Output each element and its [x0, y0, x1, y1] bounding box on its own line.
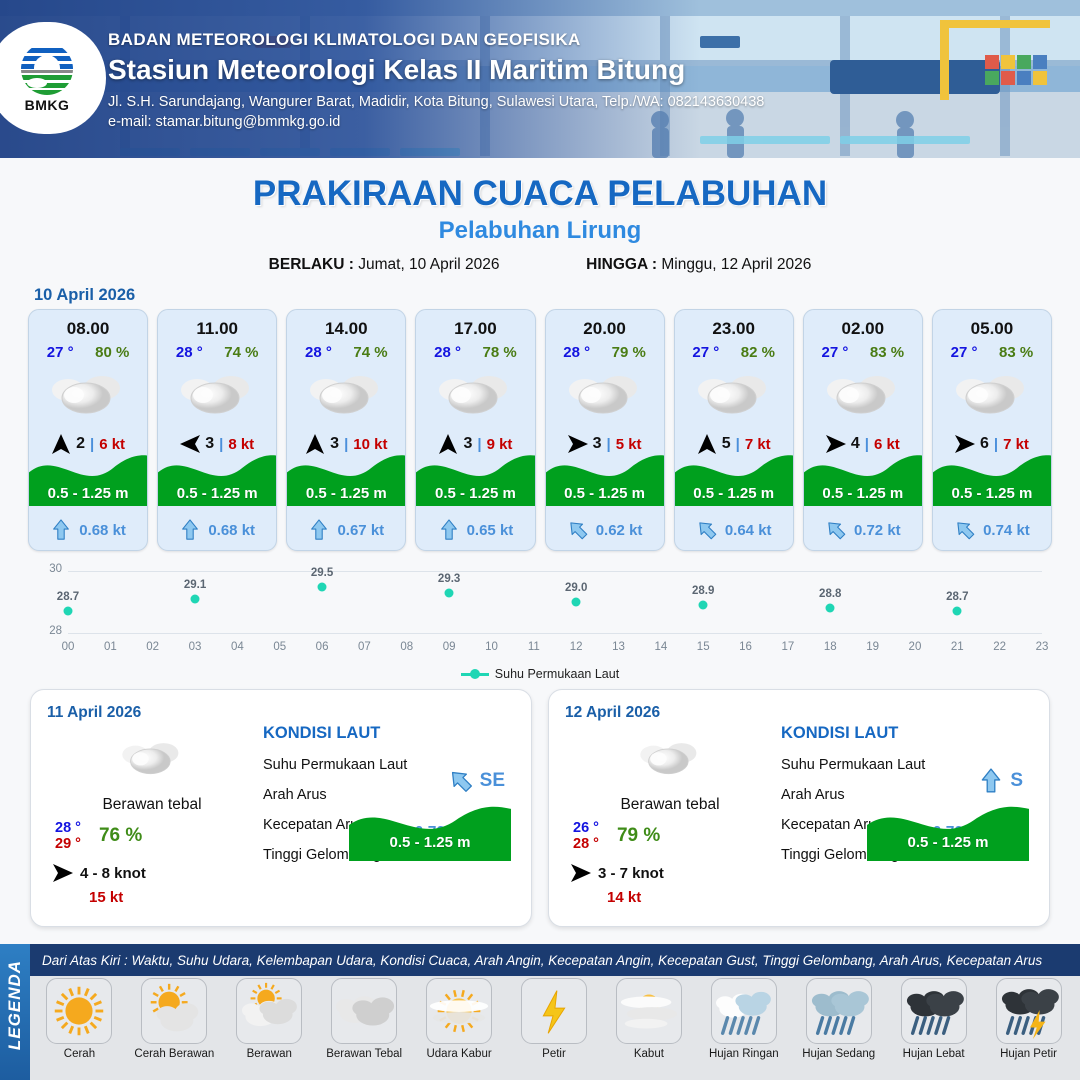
card-humidity: 83 % [870, 344, 904, 361]
validity-row: BERLAKU : Jumat, 10 April 2026 HINGGA : … [0, 256, 1080, 274]
legend-caption: Petir [542, 1048, 566, 1060]
chart-point-label: 28.8 [819, 588, 841, 600]
chart-x-tick: 00 [62, 641, 75, 653]
card-weather-icon [158, 363, 276, 425]
daily-temp-min: 28 ° [55, 820, 81, 836]
forecast-day-label: 10 April 2026 [34, 286, 1080, 305]
thunderstorm-icon [997, 978, 1061, 1044]
card-weather-icon [804, 363, 922, 425]
card-wave-height: 0.5 - 1.25 m [804, 485, 922, 502]
legend-caption: Hujan Petir [1000, 1048, 1057, 1060]
card-temperature: 28 ° [176, 344, 203, 361]
light-rain-icon [712, 978, 776, 1044]
daily-humidity: 76 % [99, 825, 142, 847]
page-header: BMKG BADAN METEOROLOGI KLIMATOLOGI DAN G… [0, 0, 1080, 158]
legend-tile [806, 978, 872, 1044]
daily-wind-row: 3 - 7 knot [565, 862, 775, 884]
legend-item: Berawan [222, 978, 317, 1060]
current-direction-arrow-icon [438, 519, 460, 541]
chart-data-point [445, 588, 454, 597]
cloudy-icon [637, 738, 703, 778]
legend-caption: Berawan Tebal [326, 1048, 402, 1060]
daily-weather-icon [565, 730, 775, 786]
daily-wave-height: 0.5 - 1.25 m [867, 834, 1029, 851]
chart-x-tick: 08 [400, 641, 413, 653]
bmkg-logo-text: BMKG [25, 97, 70, 113]
card-current-speed: 0.65 kt [467, 522, 514, 539]
legend-side-bar: LEGENDA [0, 944, 30, 1080]
card-current-row: 0.74 kt [933, 519, 1051, 541]
sst-legend-marker-icon [461, 673, 489, 676]
chart-data-point [953, 607, 962, 616]
daily-date: 11 April 2026 [47, 704, 515, 722]
legend-caption: Hujan Ringan [709, 1048, 779, 1060]
daily-gust: 14 kt [565, 889, 775, 906]
daily-temps-row: 28 ° 29 ° 76 % [47, 820, 257, 852]
daily-temp-min: 26 ° [573, 820, 599, 836]
hourly-card: 14.00 28 ° 74 % 3 | 10 kt 0.5 - 1.25 m 0… [286, 309, 406, 551]
card-wave-height: 0.5 - 1.25 m [29, 485, 147, 502]
legend-tile [236, 978, 302, 1044]
chart-point-label: 29.5 [311, 567, 333, 579]
chart-point-label: 29.1 [184, 579, 206, 591]
hourly-card: 02.00 27 ° 83 % 4 | 6 kt 0.5 - 1.25 m 0.… [803, 309, 923, 551]
sea-condition-block: KONDISI LAUT Suhu Permukaan Laut Arah Ar… [263, 724, 517, 863]
chart-x-tick: 18 [824, 641, 837, 653]
cloudy-icon [823, 370, 903, 418]
sun-icon [47, 978, 111, 1044]
sst-chart: 2830000102030405060708091011121314151617… [24, 565, 1056, 661]
daily-left-block: Berawan tebal 28 ° 29 ° 76 % 4 - 8 knot … [47, 730, 257, 906]
legend-caption: Hujan Sedang [802, 1048, 875, 1060]
current-direction-arrow-icon [179, 519, 201, 541]
daily-wind-speed: 4 - 8 knot [80, 865, 146, 882]
daily-forecast-card: 11 April 2026 Berawan tebal 28 ° 29 ° 76… [30, 689, 532, 927]
chart-x-tick: 21 [951, 641, 964, 653]
current-direction-arrow-icon [50, 519, 72, 541]
daily-date: 12 April 2026 [565, 704, 1033, 722]
legend-tile [46, 978, 112, 1044]
legend-tile [711, 978, 777, 1044]
card-time: 02.00 [804, 319, 922, 339]
chart-y-tick: 30 [34, 563, 62, 575]
chart-gridline [68, 633, 1042, 634]
card-current-speed: 0.62 kt [596, 522, 643, 539]
legend-item: Kabut [601, 978, 696, 1060]
legend-item: Hujan Petir [981, 978, 1076, 1060]
card-current-row: 0.68 kt [29, 519, 147, 541]
legend-item: Cerah Berawan [127, 978, 222, 1060]
legend-item: Berawan Tebal [317, 978, 412, 1060]
card-current-row: 0.68 kt [158, 519, 276, 541]
card-current-row: 0.72 kt [804, 519, 922, 541]
legend-tile [616, 978, 682, 1044]
card-wave-height: 0.5 - 1.25 m [416, 485, 534, 502]
card-temperature: 27 ° [692, 344, 719, 361]
station-address: Jl. S.H. Sarundajang, Wangurer Barat, Ma… [108, 94, 764, 110]
chart-x-tick: 12 [570, 641, 583, 653]
port-name: Pelabuhan Lirung [0, 217, 1080, 245]
daily-temp-max: 29 ° [55, 836, 81, 852]
chart-x-tick: 09 [443, 641, 456, 653]
sea-condition-title: KONDISI LAUT [781, 724, 1035, 743]
current-direction-arrow-icon [442, 763, 479, 800]
chart-point-label: 28.7 [57, 591, 79, 603]
legend-caption: Berawan [247, 1048, 292, 1060]
chart-data-point [318, 582, 327, 591]
legend-tile [426, 978, 492, 1044]
haze-icon [427, 978, 491, 1044]
card-weather-icon [933, 363, 1051, 425]
bmkg-emblem-icon [21, 43, 73, 95]
legend-items: Cerah Cerah Berawan Berawan Berawan Teba… [32, 978, 1076, 1060]
current-direction-arrow-icon [978, 768, 1004, 794]
daily-current-direction: S [978, 768, 1023, 794]
card-weather-icon [675, 363, 793, 425]
card-time: 23.00 [675, 319, 793, 339]
legend-caption: Hujan Lebat [903, 1048, 965, 1060]
card-time: 20.00 [546, 319, 664, 339]
card-current-speed: 0.64 kt [725, 522, 772, 539]
cloudy-icon [694, 370, 774, 418]
chart-y-tick: 28 [34, 625, 62, 637]
header-text-block: BADAN METEOROLOGI KLIMATOLOGI DAN GEOFIS… [108, 30, 764, 130]
chart-x-tick: 22 [993, 641, 1006, 653]
legend-caption: Kabut [634, 1048, 664, 1060]
daily-condition: Berawan tebal [47, 796, 257, 814]
card-humidity: 80 % [95, 344, 129, 361]
daily-left-block: Berawan tebal 26 ° 28 ° 79 % 3 - 7 knot … [565, 730, 775, 906]
daily-wave-height: 0.5 - 1.25 m [349, 834, 511, 851]
chart-x-tick: 10 [485, 641, 498, 653]
chart-data-point [64, 607, 73, 616]
chart-data-point [699, 601, 708, 610]
card-temperature: 28 ° [305, 344, 332, 361]
legend-tile [521, 978, 587, 1044]
moderate-rain-icon [807, 978, 871, 1044]
card-humidity: 74 % [353, 344, 387, 361]
card-current-speed: 0.68 kt [79, 522, 126, 539]
current-direction-arrow-icon [691, 514, 722, 545]
card-temperature: 27 ° [951, 344, 978, 361]
card-time: 17.00 [416, 319, 534, 339]
chart-x-tick: 23 [1036, 641, 1049, 653]
cloudy-icon [119, 738, 185, 778]
hourly-forecast-row: 08.00 27 ° 80 % 2 | 6 kt 0.5 - 1.25 m 0.… [0, 309, 1080, 551]
chart-x-tick: 04 [231, 641, 244, 653]
cloudy-icon [435, 370, 515, 418]
cloudy-icon [565, 370, 645, 418]
berlaku-label: BERLAKU : [269, 256, 354, 273]
chart-x-tick: 19 [866, 641, 879, 653]
legend-tile [331, 978, 397, 1044]
sun-cloud-icon [142, 978, 206, 1044]
current-direction-arrow-icon [308, 519, 330, 541]
daily-gust: 15 kt [47, 889, 257, 906]
card-time: 08.00 [29, 319, 147, 339]
legend-item: Hujan Sedang [791, 978, 886, 1060]
heavy-cloud-icon [332, 978, 396, 1044]
card-temperature: 27 ° [47, 344, 74, 361]
card-temperature: 28 ° [434, 344, 461, 361]
legend-tile [996, 978, 1062, 1044]
chart-legend: Suhu Permukaan Laut [0, 667, 1080, 681]
current-direction-arrow-icon [820, 514, 851, 545]
hourly-card: 11.00 28 ° 74 % 3 | 8 kt 0.5 - 1.25 m 0.… [157, 309, 277, 551]
cloudy-icon [177, 370, 257, 418]
legend-tile [141, 978, 207, 1044]
chart-x-tick: 02 [146, 641, 159, 653]
daily-forecast-card: 12 April 2026 Berawan tebal 26 ° 28 ° 79… [548, 689, 1050, 927]
card-wave-height: 0.5 - 1.25 m [675, 485, 793, 502]
legend-caption: Udara Kabur [426, 1048, 491, 1060]
card-weather-icon [29, 363, 147, 425]
current-direction-arrow-icon [950, 514, 981, 545]
berlaku-value: Jumat, 10 April 2026 [358, 256, 499, 273]
lightning-icon [522, 978, 586, 1044]
card-wave-height: 0.5 - 1.25 m [546, 485, 664, 502]
page-title: PRAKIRAAN CUACA PELABUHAN [0, 174, 1080, 214]
chart-data-point [572, 598, 581, 607]
fog-icon [617, 978, 681, 1044]
chart-x-tick: 14 [654, 641, 667, 653]
daily-forecast-row: 11 April 2026 Berawan tebal 28 ° 29 ° 76… [0, 689, 1080, 927]
chart-data-point [191, 594, 200, 603]
wind-direction-arrow-icon [570, 863, 592, 883]
chart-x-tick: 01 [104, 641, 117, 653]
card-current-speed: 0.74 kt [983, 522, 1030, 539]
daily-wind-speed: 3 - 7 knot [598, 865, 664, 882]
card-weather-icon [416, 363, 534, 425]
cloudy-icon [48, 370, 128, 418]
daily-current-dir-text: SE [480, 770, 505, 792]
daily-temp-max: 28 ° [573, 836, 599, 852]
chart-x-tick: 20 [909, 641, 922, 653]
card-humidity: 83 % [999, 344, 1033, 361]
chart-x-tick: 05 [273, 641, 286, 653]
card-time: 11.00 [158, 319, 276, 339]
hourly-card: 08.00 27 ° 80 % 2 | 6 kt 0.5 - 1.25 m 0.… [28, 309, 148, 551]
cloudy-icon [306, 370, 386, 418]
card-current-row: 0.65 kt [416, 519, 534, 541]
title-block: PRAKIRAAN CUACA PELABUHAN Pelabuhan Liru… [0, 174, 1080, 274]
daily-humidity: 79 % [617, 825, 660, 847]
daily-wave-graphic: 0.5 - 1.25 m [349, 799, 511, 861]
chart-x-tick: 17 [782, 641, 795, 653]
sea-condition-title: KONDISI LAUT [263, 724, 517, 743]
chart-data-point [826, 604, 835, 613]
hingga-label: HINGGA : [586, 256, 657, 273]
chart-x-tick: 11 [528, 641, 540, 653]
hourly-card: 17.00 28 ° 78 % 3 | 9 kt 0.5 - 1.25 m 0.… [415, 309, 535, 551]
card-humidity: 82 % [741, 344, 775, 361]
daily-condition: Berawan tebal [565, 796, 775, 814]
legend-note-bar: Dari Atas Kiri : Waktu, Suhu Udara, Kele… [30, 944, 1080, 976]
chart-x-tick: 03 [189, 641, 202, 653]
card-current-row: 0.67 kt [287, 519, 405, 541]
current-direction-arrow-icon [562, 514, 593, 545]
chart-point-label: 29.0 [565, 582, 587, 594]
chart-plot-area: 2830000102030405060708091011121314151617… [68, 571, 1042, 633]
chart-x-tick: 15 [697, 641, 710, 653]
chart-x-tick: 06 [316, 641, 329, 653]
hourly-card: 20.00 28 ° 79 % 3 | 5 kt 0.5 - 1.25 m 0.… [545, 309, 665, 551]
legend-side-title: LEGENDA [5, 953, 25, 1057]
legend-caption: Cerah Berawan [134, 1048, 214, 1060]
chart-point-label: 28.9 [692, 585, 714, 597]
card-humidity: 74 % [224, 344, 258, 361]
card-humidity: 78 % [483, 344, 517, 361]
wind-direction-arrow-icon [52, 863, 74, 883]
card-current-row: 0.64 kt [675, 519, 793, 541]
daily-temps-row: 26 ° 28 ° 79 % [565, 820, 775, 852]
daily-wind-row: 4 - 8 knot [47, 862, 257, 884]
station-name: Stasiun Meteorologi Kelas II Maritim Bit… [108, 54, 764, 86]
wave-height-graphic [867, 799, 1029, 861]
hourly-card: 23.00 27 ° 82 % 5 | 7 kt 0.5 - 1.25 m 0.… [674, 309, 794, 551]
card-weather-icon [546, 363, 664, 425]
heavy-rain-icon [902, 978, 966, 1044]
chart-point-label: 28.7 [946, 591, 968, 603]
cloudy-icon [952, 370, 1032, 418]
legend-tile [901, 978, 967, 1044]
station-email: e-mail: stamar.bitung@bmmkg.go.id [108, 114, 764, 130]
chart-x-tick: 13 [612, 641, 625, 653]
card-temperature: 27 ° [822, 344, 849, 361]
card-current-speed: 0.72 kt [854, 522, 901, 539]
hourly-card: 05.00 27 ° 83 % 6 | 7 kt 0.5 - 1.25 m 0.… [932, 309, 1052, 551]
card-wave-height: 0.5 - 1.25 m [158, 485, 276, 502]
card-time: 05.00 [933, 319, 1051, 339]
legend-item: Hujan Ringan [696, 978, 791, 1060]
card-humidity: 79 % [612, 344, 646, 361]
card-wave-height: 0.5 - 1.25 m [933, 485, 1051, 502]
legend-item: Udara Kabur [412, 978, 507, 1060]
legend-item: Hujan Lebat [886, 978, 981, 1060]
daily-current-direction: SE [448, 768, 505, 794]
sea-condition-block: KONDISI LAUT Suhu Permukaan Laut Arah Ar… [781, 724, 1035, 863]
cloud-sun-icon [237, 978, 301, 1044]
legend-caption: Cerah [64, 1048, 95, 1060]
wave-height-graphic [349, 799, 511, 861]
daily-weather-icon [47, 730, 257, 786]
hingga-value: Minggu, 12 April 2026 [661, 256, 811, 273]
card-weather-icon [287, 363, 405, 425]
legend-item: Petir [507, 978, 602, 1060]
legend-note: Dari Atas Kiri : Waktu, Suhu Udara, Kele… [30, 953, 1042, 968]
card-current-speed: 0.67 kt [337, 522, 384, 539]
chart-x-tick: 07 [358, 641, 371, 653]
daily-wave-graphic: 0.5 - 1.25 m [867, 799, 1029, 861]
card-wave-height: 0.5 - 1.25 m [287, 485, 405, 502]
card-time: 14.00 [287, 319, 405, 339]
legend-section: LEGENDA Dari Atas Kiri : Waktu, Suhu Uda… [0, 944, 1080, 1080]
agency-name: BADAN METEOROLOGI KLIMATOLOGI DAN GEOFIS… [108, 30, 764, 50]
daily-current-dir-text: S [1010, 770, 1023, 792]
card-current-speed: 0.68 kt [208, 522, 255, 539]
legend-item: Cerah [32, 978, 127, 1060]
sst-legend-label: Suhu Permukaan Laut [495, 667, 619, 681]
chart-point-label: 29.3 [438, 573, 460, 585]
card-temperature: 28 ° [563, 344, 590, 361]
card-current-row: 0.62 kt [546, 519, 664, 541]
chart-x-tick: 16 [739, 641, 752, 653]
chart-gridline [68, 571, 1042, 572]
